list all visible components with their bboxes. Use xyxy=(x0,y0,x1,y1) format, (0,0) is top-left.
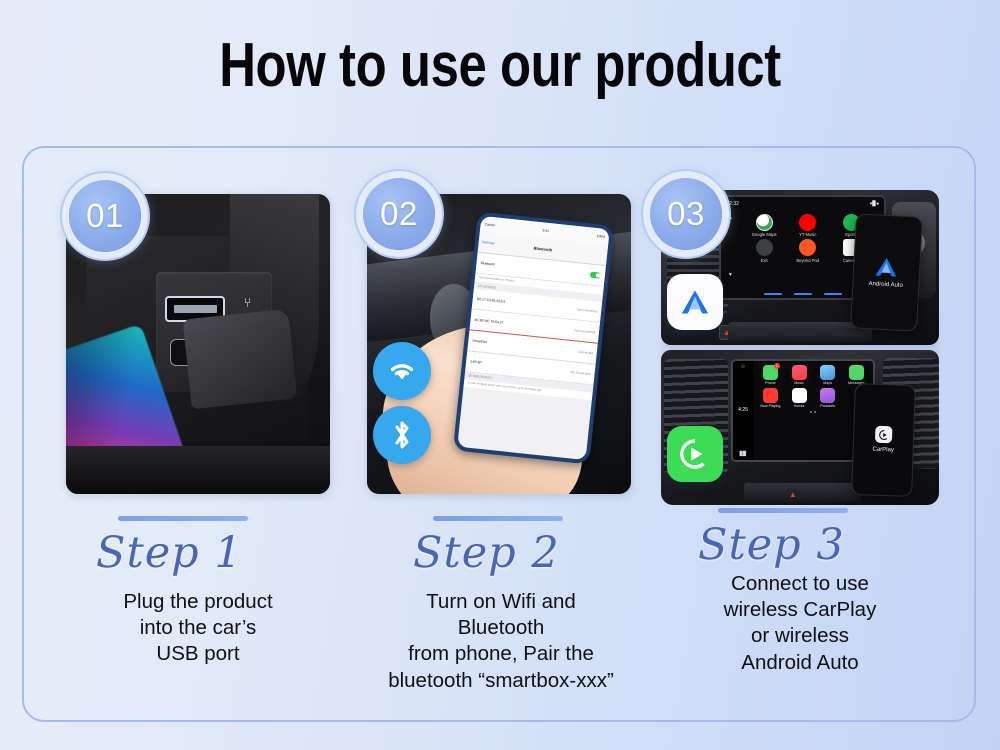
app-tile[interactable]: Beyond Pod xyxy=(787,239,829,263)
app-tile[interactable]: Honda xyxy=(786,388,812,408)
app-tile[interactable]: Exit xyxy=(743,239,785,263)
usb-adapter-shape xyxy=(183,309,297,410)
yt-music-icon xyxy=(799,214,816,231)
step-2-divider xyxy=(433,516,563,521)
head-unit-signal-icons: ▾▉● xyxy=(870,201,879,207)
step-card-1: 01 ⑂ Step 1 Plug the product into the ca… xyxy=(48,146,348,722)
step-2-label: Step 2 xyxy=(413,528,560,578)
phone-app-label: Android Auto xyxy=(868,281,903,289)
head-unit-clock: 12:32 xyxy=(726,201,739,207)
chevron-up-icon[interactable]: ▲ xyxy=(728,215,733,221)
carplay-app-grid: 1 Phone Music Maps xyxy=(758,365,869,408)
step-1-caption-line-1: Plug the product xyxy=(48,589,348,615)
app-label: Phone xyxy=(765,381,775,385)
app-tile[interactable]: 1 Phone xyxy=(758,365,784,385)
iphone-device: Carrier 9:41 100% Settings Bluetooth Blu… xyxy=(453,211,615,464)
head-unit-button-row[interactable] xyxy=(728,322,873,342)
page-title: How to use our product xyxy=(90,30,910,101)
honda-app-icon xyxy=(792,388,807,403)
now-playing-icon xyxy=(763,388,778,403)
wifi-icon xyxy=(373,342,431,400)
app-label: Beyond Pod xyxy=(796,258,819,263)
app-label: Exit xyxy=(761,258,768,263)
status-battery: 100% xyxy=(596,234,605,239)
head-unit-status-bar: 12:32 ▾▉● xyxy=(721,197,884,211)
step-badge-01: 01 xyxy=(69,180,141,252)
step-3-caption-line-2: wireless CarPlay xyxy=(650,597,950,623)
maps-app-icon xyxy=(820,365,835,380)
carplay-side-rail: ☉ 4:25 ▉▉ xyxy=(733,361,754,459)
google-maps-icon xyxy=(756,214,773,231)
exit-icon xyxy=(756,239,773,256)
phone-app-label: CarPlay xyxy=(872,447,894,454)
music-app-icon xyxy=(792,365,807,380)
app-tile[interactable]: Maps xyxy=(815,365,841,385)
step-card-3: 03 12:32 ▾▉● ▲ ▼ xyxy=(650,146,950,722)
hazard-button-icon[interactable]: ▲ xyxy=(789,490,797,499)
step-3-caption-line-1: Connect to use xyxy=(650,571,950,597)
app-tile[interactable]: Music xyxy=(786,365,812,385)
console-lip-shape xyxy=(66,446,330,494)
connectivity-icons-overlay xyxy=(373,342,431,464)
step-3-caption: Connect to use wireless CarPlay or wirel… xyxy=(650,571,950,676)
chevron-down-icon[interactable]: ▼ xyxy=(728,272,733,278)
step-1-label: Step 1 xyxy=(96,528,243,578)
back-button[interactable]: Settings xyxy=(481,240,494,245)
step-2-caption: Turn on Wifi and Bluetooth from phone, P… xyxy=(341,589,661,694)
carplay-overlay-icon-wrap xyxy=(667,426,723,482)
step-3-divider xyxy=(718,508,848,513)
device-name: SJR-BT xyxy=(470,359,482,364)
step-1-caption: Plug the product into the car’s USB port xyxy=(48,589,348,668)
app-label: Google Maps xyxy=(752,232,777,237)
page-dots xyxy=(758,411,869,413)
carplay-signal-icon: ▉▉ xyxy=(740,451,747,457)
device-status: Not Connected xyxy=(576,307,597,313)
step-1-divider xyxy=(118,516,248,521)
app-label: Maps xyxy=(823,381,832,385)
step-2-caption-line-2: Bluetooth xyxy=(341,615,661,641)
device-name: D0:17:C2:81:52:E1 xyxy=(476,297,505,304)
steps-container: 01 ⑂ Step 1 Plug the product into the ca… xyxy=(22,146,976,722)
step-2-caption-line-1: Turn on Wifi and xyxy=(341,589,661,615)
status-carrier: Carrier xyxy=(484,222,495,227)
device-name: SmartBox xyxy=(472,338,487,344)
app-tile[interactable]: Now Playing xyxy=(758,388,784,408)
app-label: Honda xyxy=(794,404,805,408)
app-tile[interactable]: Google Maps xyxy=(743,214,785,238)
app-tile[interactable]: YT Music xyxy=(787,214,829,238)
device-name: 4C:EF:8C:76:54:27 xyxy=(474,318,503,325)
notification-badge: 1 xyxy=(774,363,780,369)
app-label: Podcasts xyxy=(820,404,835,408)
app-tile[interactable]: Messages xyxy=(843,365,869,385)
device-status: Not Connected xyxy=(574,328,595,334)
android-auto-logo-icon xyxy=(873,255,900,278)
carplay-home-icon[interactable]: ☉ xyxy=(741,364,745,370)
step-badge-03: 03 xyxy=(650,178,722,250)
head-unit-side-rail: ▲ ▼ xyxy=(724,215,736,278)
phone-android-auto: Android Auto xyxy=(850,213,923,331)
device-status: Not Connected xyxy=(570,370,591,376)
beyond-pod-icon xyxy=(799,239,816,256)
bluetooth-toggle-switch[interactable] xyxy=(590,272,602,279)
nav-title: Bluetooth xyxy=(533,245,552,252)
android-auto-icon xyxy=(667,274,723,330)
phone-app-icon: 1 xyxy=(763,365,778,380)
carplay-icon xyxy=(667,426,723,482)
messages-app-icon xyxy=(849,365,864,380)
status-time: 9:41 xyxy=(542,228,549,233)
bluetooth-toggle-label: Bluetooth xyxy=(480,261,495,266)
app-label: Music xyxy=(794,381,803,385)
phone-carplay: CarPlay xyxy=(851,383,916,497)
step-3-caption-line-3: or wireless xyxy=(650,623,950,649)
app-tile[interactable]: Podcasts xyxy=(815,388,841,408)
iphone-screen: Carrier 9:41 100% Settings Bluetooth Blu… xyxy=(457,216,610,460)
step-card-2: 02 Carrier 9:41 100% Settings xyxy=(349,146,649,722)
step-2-caption-line-3: from phone, Pair the xyxy=(341,641,661,667)
android-auto-overlay-icon-wrap xyxy=(667,274,723,330)
step-badge-02: 02 xyxy=(363,178,435,250)
center-stack-plate xyxy=(744,483,861,502)
app-label: YT Music xyxy=(799,232,816,237)
device-status: Connected xyxy=(578,349,593,355)
carplay-clock: 4:25 xyxy=(738,407,748,413)
app-label: Now Playing xyxy=(760,404,780,408)
podcasts-app-icon xyxy=(820,388,835,403)
step-3-label: Step 3 xyxy=(698,520,845,570)
step-3-caption-line-4: Android Auto xyxy=(650,650,950,676)
step-2-caption-line-4: bluetooth “smartbox-xxx” xyxy=(341,668,661,694)
step-1-caption-line-2: into the car’s xyxy=(48,615,348,641)
carplay-logo-icon xyxy=(875,426,893,444)
bluetooth-icon xyxy=(373,406,431,464)
step-1-caption-line-3: USB port xyxy=(48,641,348,667)
